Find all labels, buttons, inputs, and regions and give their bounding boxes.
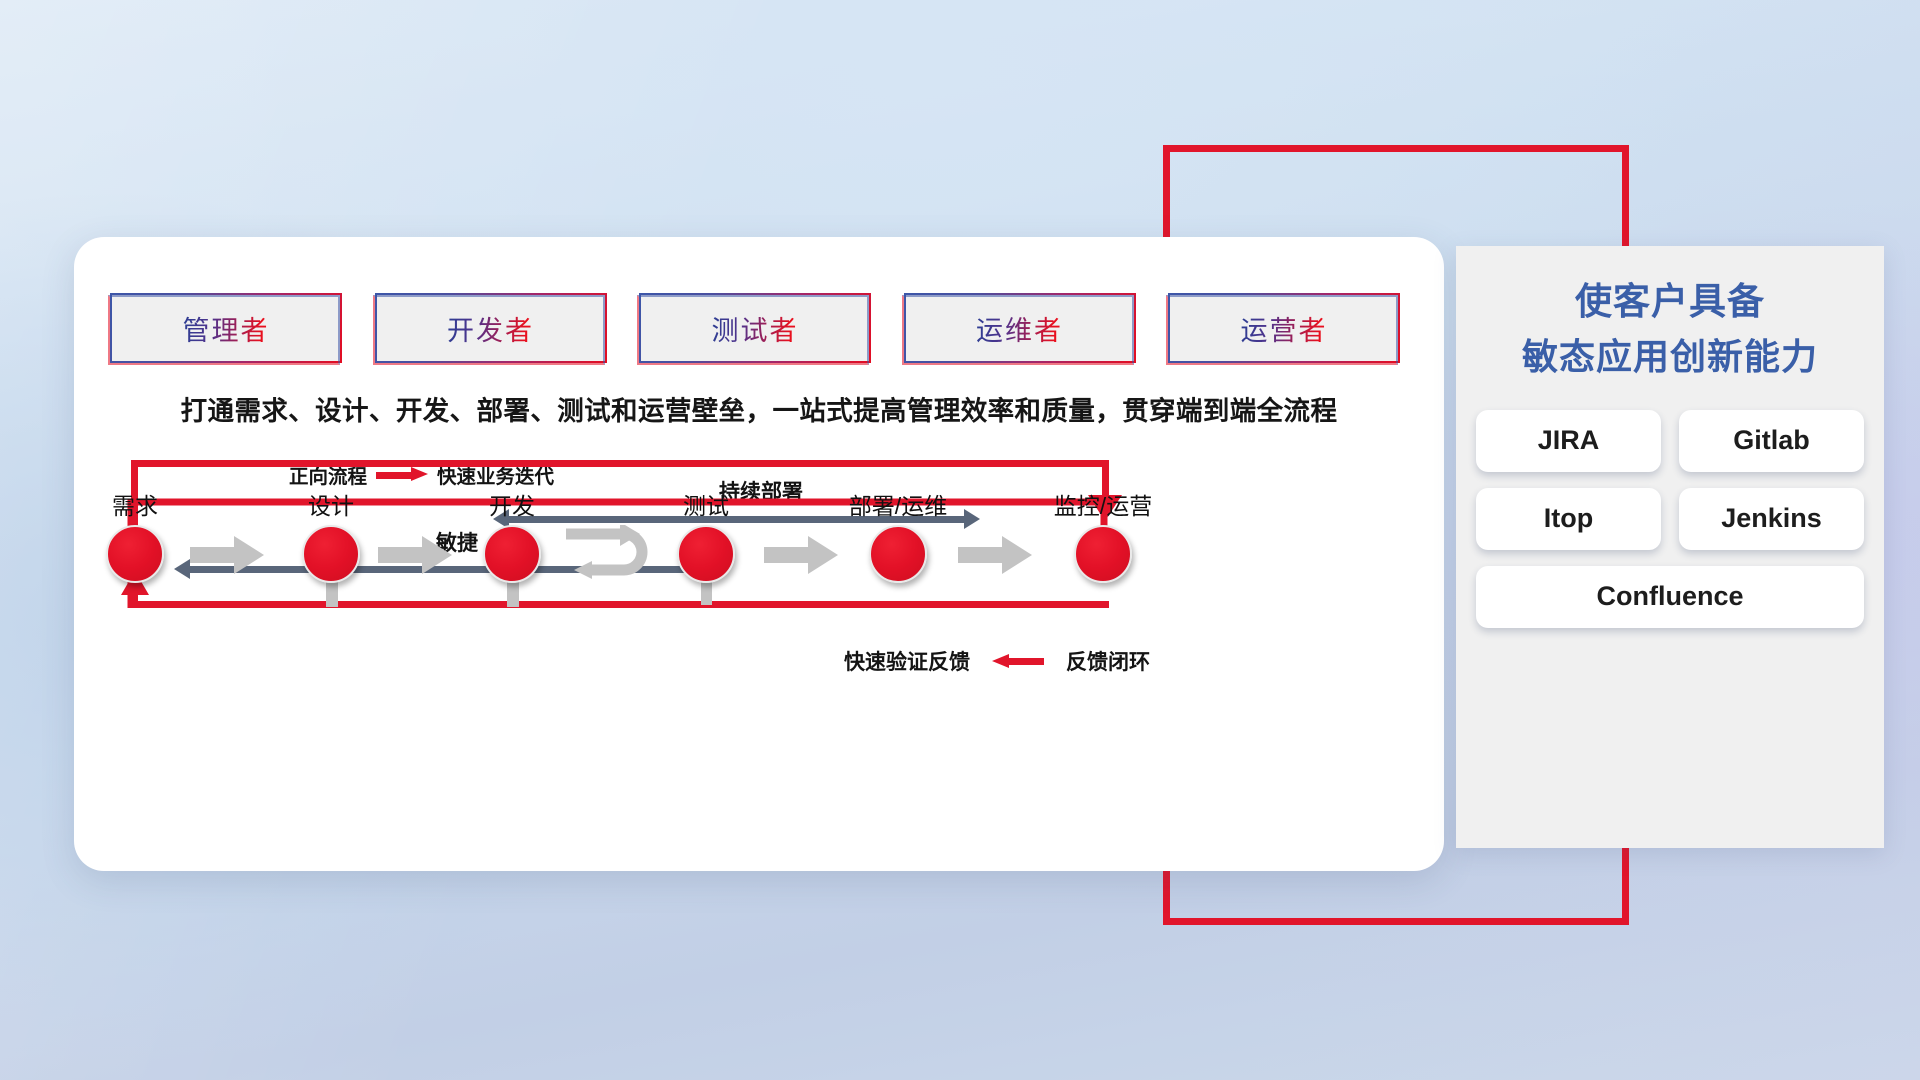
- arrow-left-red-icon: [992, 654, 1044, 669]
- node-label: 部署/运维: [849, 487, 947, 521]
- tools-title-line-2: 敏态应用创新能力: [1456, 330, 1884, 384]
- pipeline-node-deploy-ops[interactable]: 部署/运维: [869, 525, 927, 583]
- tool-chip-confluence[interactable]: Confluence: [1476, 566, 1864, 628]
- node-label: 监控/运营: [1054, 487, 1152, 521]
- connector-arrow-1-icon: [190, 534, 264, 576]
- role-label: 测试者: [712, 309, 799, 348]
- node-dot: [677, 525, 735, 583]
- tool-chip-gitlab[interactable]: Gitlab: [1679, 410, 1864, 472]
- tools-grid: JIRA Gitlab Itop Jenkins Confluence: [1476, 410, 1864, 628]
- node-label: 测试: [683, 487, 729, 521]
- connector-loop-back-icon: [562, 525, 662, 587]
- tools-panel: 使客户具备 敏态应用创新能力 JIRA Gitlab Itop Jenkins …: [1456, 246, 1884, 848]
- pipeline-node-test[interactable]: 测试: [677, 525, 735, 583]
- legend-feedback-loop: 快速验证反馈 反馈闭环: [844, 646, 1150, 676]
- node-dot: [1074, 525, 1132, 583]
- node-dot: [483, 525, 541, 583]
- connector-arrow-5-icon: [958, 534, 1032, 576]
- legend-feedback-right-label: 反馈闭环: [1066, 646, 1150, 676]
- node-dot: [869, 525, 927, 583]
- pipeline-node-monitor-operations[interactable]: 监控/运营: [1074, 525, 1132, 583]
- node-label: 设计: [308, 487, 354, 521]
- node-label: 需求: [112, 487, 158, 521]
- role-label: 管理者: [183, 309, 270, 348]
- legend-feedback-left-label: 快速验证反馈: [844, 646, 970, 676]
- node-label: 开发: [489, 487, 535, 521]
- tool-chip-jira[interactable]: JIRA: [1476, 410, 1661, 472]
- pipeline-node-design[interactable]: 设计: [302, 525, 360, 583]
- tools-panel-title: 使客户具备 敏态应用创新能力: [1456, 246, 1884, 384]
- node-dot: [302, 525, 360, 583]
- role-label: 运维者: [976, 309, 1063, 348]
- role-label: 运营者: [1241, 309, 1328, 348]
- pipeline-node-develop[interactable]: 开发: [483, 525, 541, 583]
- main-card: 管理者 开发者 测试者 运维者 运营者 打通需求、设计、开发、部署、测试和运营壁…: [74, 237, 1444, 871]
- tools-title-line-1: 使客户具备: [1456, 274, 1884, 330]
- connector-arrow-2-icon: [378, 534, 452, 576]
- tool-chip-jenkins[interactable]: Jenkins: [1679, 488, 1864, 550]
- pipeline-node-requirement[interactable]: 需求: [106, 525, 164, 583]
- node-dot: [106, 525, 164, 583]
- tool-chip-itop[interactable]: Itop: [1476, 488, 1661, 550]
- connector-arrow-4-icon: [764, 534, 838, 576]
- role-label: 开发者: [447, 309, 534, 348]
